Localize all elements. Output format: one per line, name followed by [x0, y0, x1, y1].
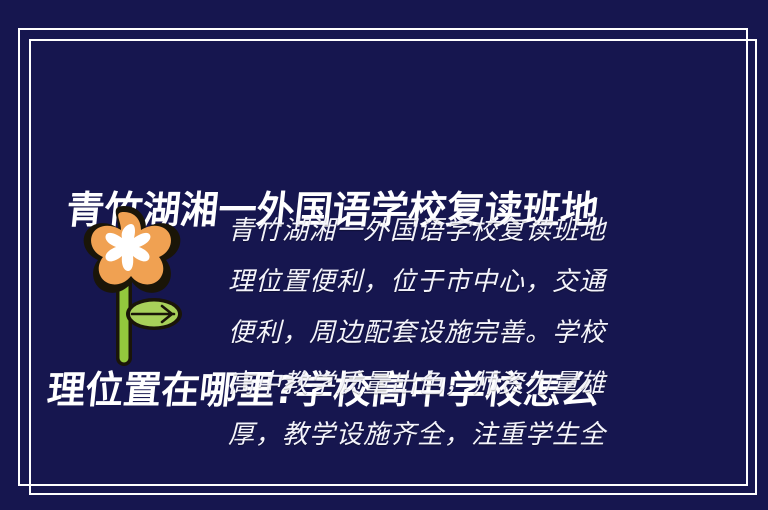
flower-icon [62, 198, 192, 368]
article-body-line-1: 青竹湖湘一外国语学校复读班地 [228, 206, 672, 257]
article-body-line-2: 理位置便利，位于市中心，交通 [228, 257, 672, 308]
article-body: 青竹湖湘一外国语学校复读班地 理位置便利，位于市中心，交通 便利，周边配套设施完… [228, 206, 672, 461]
article-body-line-5: 厚，教学设施齐全，注重学生全 [228, 410, 672, 461]
article-body-line-3: 便利，周边配套设施完善。学校 [228, 308, 672, 359]
frame-right-clip [758, 0, 768, 510]
flower-illustration [62, 198, 192, 368]
article-body-line-4: 高中教学质量出色，师资力量雄 [228, 359, 672, 410]
flower-leaf-icon [126, 298, 182, 330]
article-card: 青竹湖湘一外国语学校复读班地 理位置在哪里?学校高中学校怎么 [0, 0, 768, 510]
